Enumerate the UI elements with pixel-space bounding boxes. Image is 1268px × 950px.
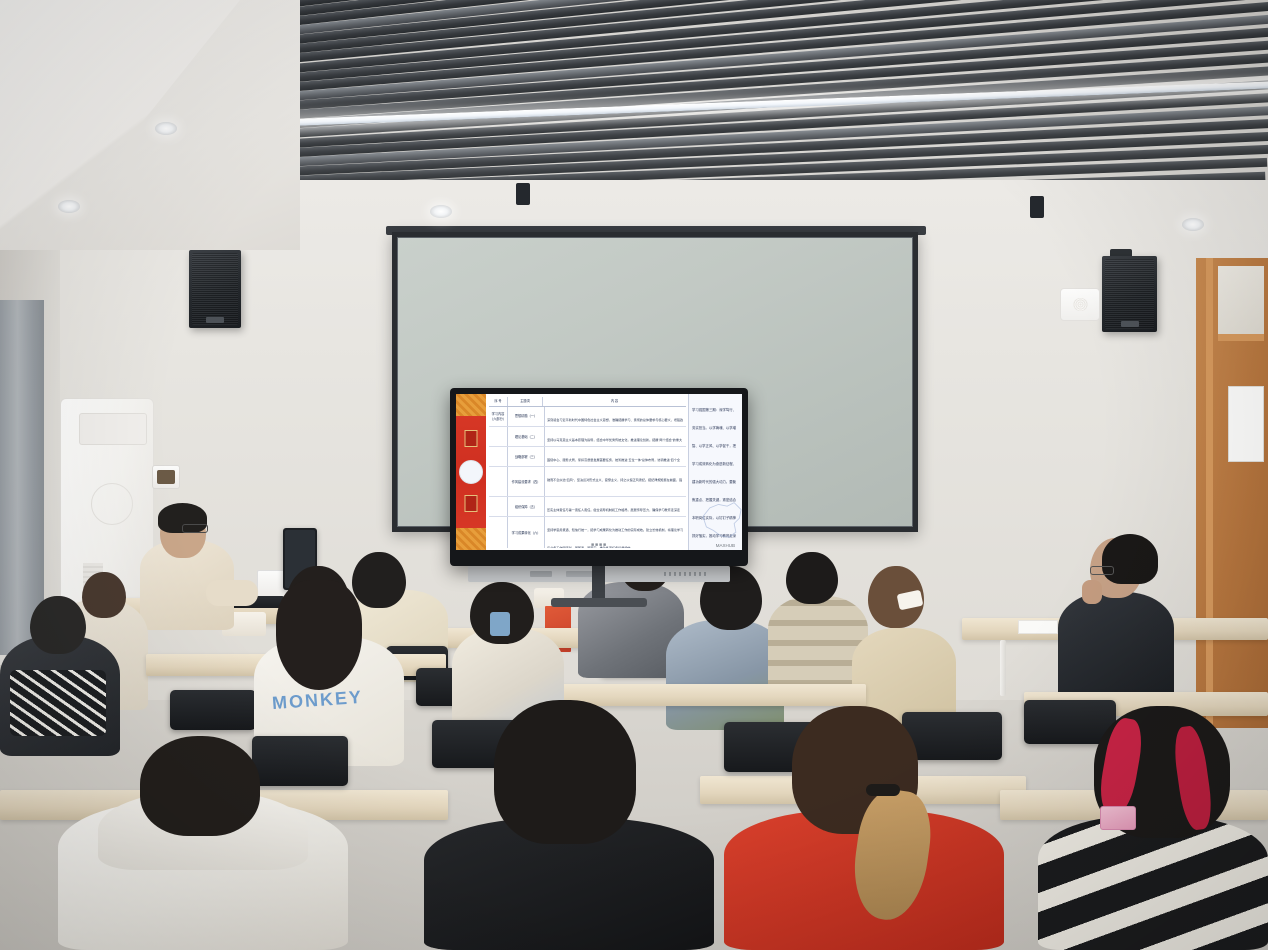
row-content: 围绕中心、服务大局，紧扣高质量发展首要任务，统筹推进“五位一体”总体布局，协调推…	[547, 458, 680, 466]
recessed-downlight	[1182, 218, 1204, 231]
recessed-downlight	[58, 200, 80, 213]
slide-body: 序 号 主题词 内 容 学习内容 （六部分） 思想精髓（一） 深刻领会习近平新时…	[486, 394, 742, 550]
right-wall-speaker	[1102, 256, 1157, 332]
ceiling-projector-mount	[516, 183, 530, 205]
attendee-glasses	[1090, 566, 1114, 575]
chair-back	[252, 736, 348, 786]
hair-tie	[866, 784, 900, 796]
attendee-torso-suit	[1058, 592, 1174, 704]
display-screen: 序 号 主题词 内 容 学习内容 （六部分） 思想精髓（一） 深刻领会习近平新时…	[456, 394, 742, 550]
attendee-head	[82, 572, 126, 618]
row-content: 坚持以马克思主义基本原理为指导，结合中华优秀传统文化，推进理论创新。把握“两个结…	[547, 438, 682, 446]
ceiling-projector-mount	[1030, 196, 1044, 218]
desk-leg	[1000, 640, 1006, 696]
attendee-hand	[1082, 580, 1102, 604]
seal-stamp-bottom	[465, 495, 478, 512]
slide-document-table: 序 号 主题词 内 容 学习内容 （六部分） 思想精髓（一） 深刻领会习近平新时…	[486, 394, 688, 550]
attendee-head	[30, 596, 86, 654]
row-content: 坚持学思用贯通、知信行统一，把学习成果转化为推动工作的实际成效。建立长效机制，将…	[547, 528, 683, 548]
recessed-downlight	[430, 205, 452, 218]
china-map-watermark	[696, 494, 742, 546]
row-topic: 理论基础（二）	[515, 435, 537, 439]
col-header-content: 内 容	[611, 399, 618, 403]
classroom-photo: 序 号 主题词 内 容 学习内容 （六部分） 思想精髓（一） 深刻领会习近平新时…	[0, 0, 1268, 950]
row-topic: 思想精髓（一）	[515, 414, 537, 418]
row-topic: 战略部署（三）	[515, 455, 537, 459]
table-header-row: 序 号 主题词 内 容	[489, 397, 686, 407]
display-osd-label: ■■■■	[591, 542, 607, 548]
col-header-index: 序 号	[494, 399, 501, 403]
desk-row-3-mid	[556, 684, 866, 706]
door-notice	[1228, 386, 1264, 462]
attendee-torso	[666, 620, 784, 730]
wall-air-diffuser	[1060, 288, 1100, 321]
display-stand-base	[551, 598, 647, 607]
rail-ornament-bottom	[456, 528, 486, 550]
col-header-topic: 主题词	[520, 399, 530, 403]
row-topic: 组织保障（五）	[515, 505, 537, 509]
mobile-phone[interactable]	[1100, 806, 1136, 830]
slide-decorative-rail	[456, 394, 486, 550]
chair-back	[902, 712, 1002, 760]
blue-hair-clip	[490, 612, 510, 636]
row-topic: 作风建设要求（四）	[512, 480, 541, 484]
table-row: 战略部署（三） 围绕中心、服务大局，紧扣高质量发展首要任务，统筹推进“五位一体”…	[489, 447, 686, 467]
display-brand-logo: MAXHUB	[716, 543, 735, 548]
wall-control-panel[interactable]	[152, 465, 180, 489]
slide-sidebar: 学习强国第三期：深学笃行、务实担当。以学铸魂、以学增智、以学正风、以学促干，把学…	[688, 394, 742, 550]
interactive-display[interactable]: 序 号 主题词 内 容 学习内容 （六部分） 思想精髓（一） 深刻领会习近平新时…	[450, 388, 748, 566]
row-content: 压实主体责任与第一责任人责任，健全领导机制和工作格局，层层传导压力，确保学习教育…	[547, 508, 680, 516]
desk-paper	[1018, 620, 1058, 634]
attendee-hair	[276, 580, 362, 690]
recessed-downlight	[155, 122, 177, 135]
presenter-glasses	[182, 524, 208, 533]
attendee-head	[786, 552, 838, 604]
attendee-hair	[1102, 534, 1158, 584]
table-row: 学习内容 （六部分） 思想精髓（一） 深刻领会习近平新时代中国特色社会主义思想，…	[489, 407, 686, 427]
table-row: 作风建设要求（四） 驰而不息纠治“四风”，坚决反对形式主义、官僚主义，持之以恒正…	[489, 467, 686, 497]
row-content: 驰而不息纠治“四风”，坚决反对形式主义、官僚主义，持之以恒正风肃纪。把纪律规矩挺…	[547, 478, 682, 496]
table-row: 组织保障（五） 压实主体责任与第一责任人责任，健全领导机制和工作格局，层层传导压…	[489, 497, 686, 517]
table-row: 理论基础（二） 坚持以马克思主义基本原理为指导，结合中华优秀传统文化，推进理论创…	[489, 427, 686, 447]
row-topic: 学习成果转化（六）	[512, 531, 541, 535]
chair-back	[170, 690, 256, 730]
table-row: 学习成果转化（六） 坚持学思用贯通、知信行统一，把学习成果转化为推动工作的实际成…	[489, 517, 686, 548]
door[interactable]	[1196, 258, 1268, 728]
left-wall-speaker	[189, 250, 241, 328]
row-group-label: 学习内容 （六部分）	[489, 412, 507, 420]
attendee-head	[140, 736, 260, 836]
row-content: 深刻领会习近平新时代中国特色社会主义思想，准确把握学习、贯彻的总体要求与核心要义…	[547, 418, 683, 426]
rail-ornament-top	[456, 394, 486, 416]
display-stand-neck	[592, 566, 605, 600]
attendee-head	[494, 700, 636, 844]
seal-stamp-top	[465, 430, 478, 447]
presenter-arm	[206, 580, 258, 606]
rail-medallion	[459, 460, 483, 484]
backpack	[10, 670, 106, 736]
attendee-head	[352, 552, 406, 608]
